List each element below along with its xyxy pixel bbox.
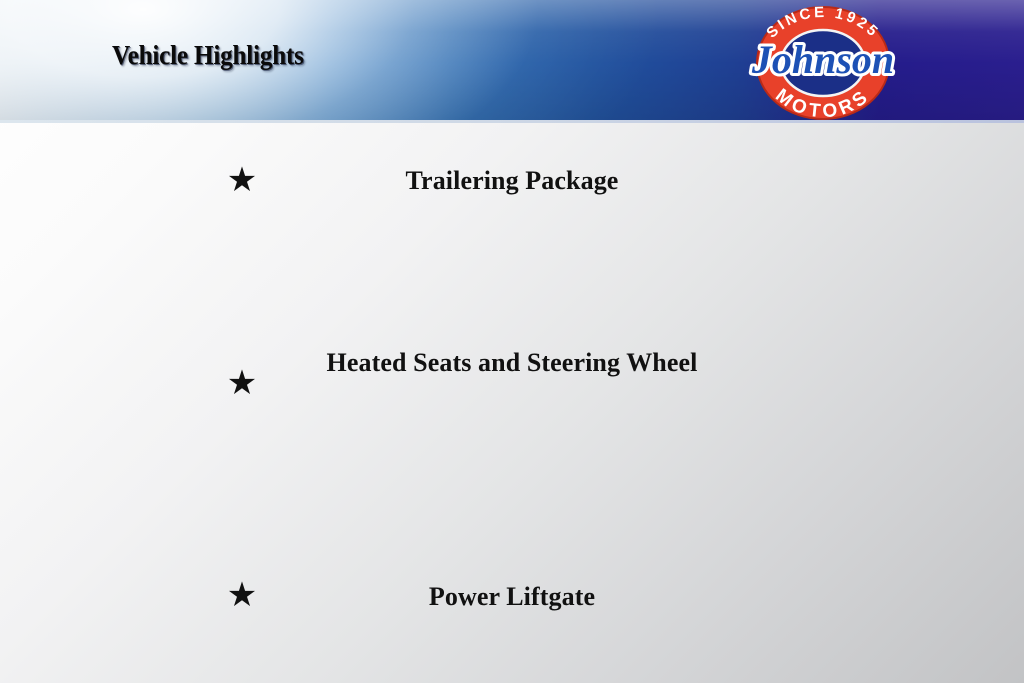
vehicle-highlights-slide: Vehicle Highlights SINCE 1925 MOTORS J	[0, 0, 1024, 683]
highlights-list: ★ Trailering Package ★ Heated Seats and …	[0, 122, 1024, 683]
svg-text:Johnson: Johnson	[751, 37, 894, 82]
logo-brand-script: Johnson Johnson	[751, 37, 894, 82]
highlight-label: Heated Seats and Steering Wheel	[300, 346, 724, 379]
highlight-label: Power Liftgate	[300, 580, 724, 613]
johnson-motors-logo: SINCE 1925 MOTORS Johnson Johnson	[735, 3, 911, 122]
page-title: Vehicle Highlights	[112, 40, 304, 71]
star-icon: ★	[222, 163, 262, 197]
star-icon: ★	[222, 366, 262, 400]
star-icon: ★	[222, 578, 262, 612]
highlight-label: Trailering Package	[300, 164, 724, 197]
